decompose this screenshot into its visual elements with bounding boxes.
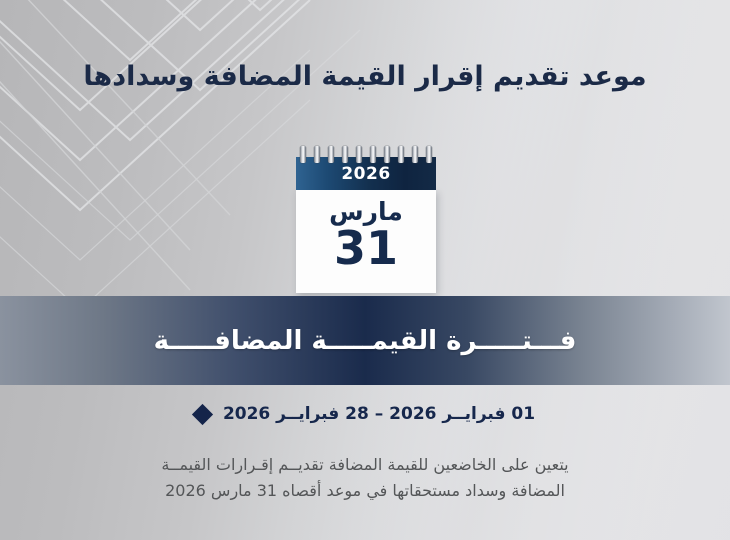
spiral-ring [370, 146, 376, 163]
note-line-1: يتعين على الخاضعين للقيمة المضافة تقديــ… [115, 452, 615, 478]
spiral-ring [328, 146, 334, 163]
calendar-day: 31 [334, 225, 398, 271]
spiral-ring [426, 146, 432, 163]
note-line-2: المضافة وسداد مستحقاتها في موعد أقصاه 31… [115, 478, 615, 504]
calendar-year: 2026 [341, 164, 390, 184]
spiral-ring [412, 146, 418, 163]
note-paragraph: يتعين على الخاضعين للقيمة المضافة تقديــ… [115, 452, 615, 505]
spiral-ring [384, 146, 390, 163]
section-banner: فـــتـــــرة القيمـــــة المضافـــــة [0, 296, 730, 385]
spiral-ring [398, 146, 404, 163]
spiral-ring [300, 146, 306, 163]
spiral-ring [342, 146, 348, 163]
vat-deadline-poster: موعد تقديم إقرار القيمة المضافة وسدادها … [0, 0, 730, 540]
spiral-ring [314, 146, 320, 163]
calendar-spiral-rings [300, 146, 432, 164]
banner-label: فـــتـــــرة القيمـــــة المضافـــــة [154, 326, 577, 356]
period-row: 01 فبرايــر 2026 – 28 فبرايــر 2026 [0, 404, 730, 424]
calendar-icon: 2026 مارس 31 [296, 152, 436, 294]
calendar-body: مارس 31 [296, 190, 436, 293]
page-title: موعد تقديم إقرار القيمة المضافة وسدادها [0, 60, 730, 94]
period-range-text: 01 فبرايــر 2026 – 28 فبرايــر 2026 [223, 404, 535, 424]
diamond-bullet-icon [192, 403, 213, 424]
spiral-ring [356, 146, 362, 163]
